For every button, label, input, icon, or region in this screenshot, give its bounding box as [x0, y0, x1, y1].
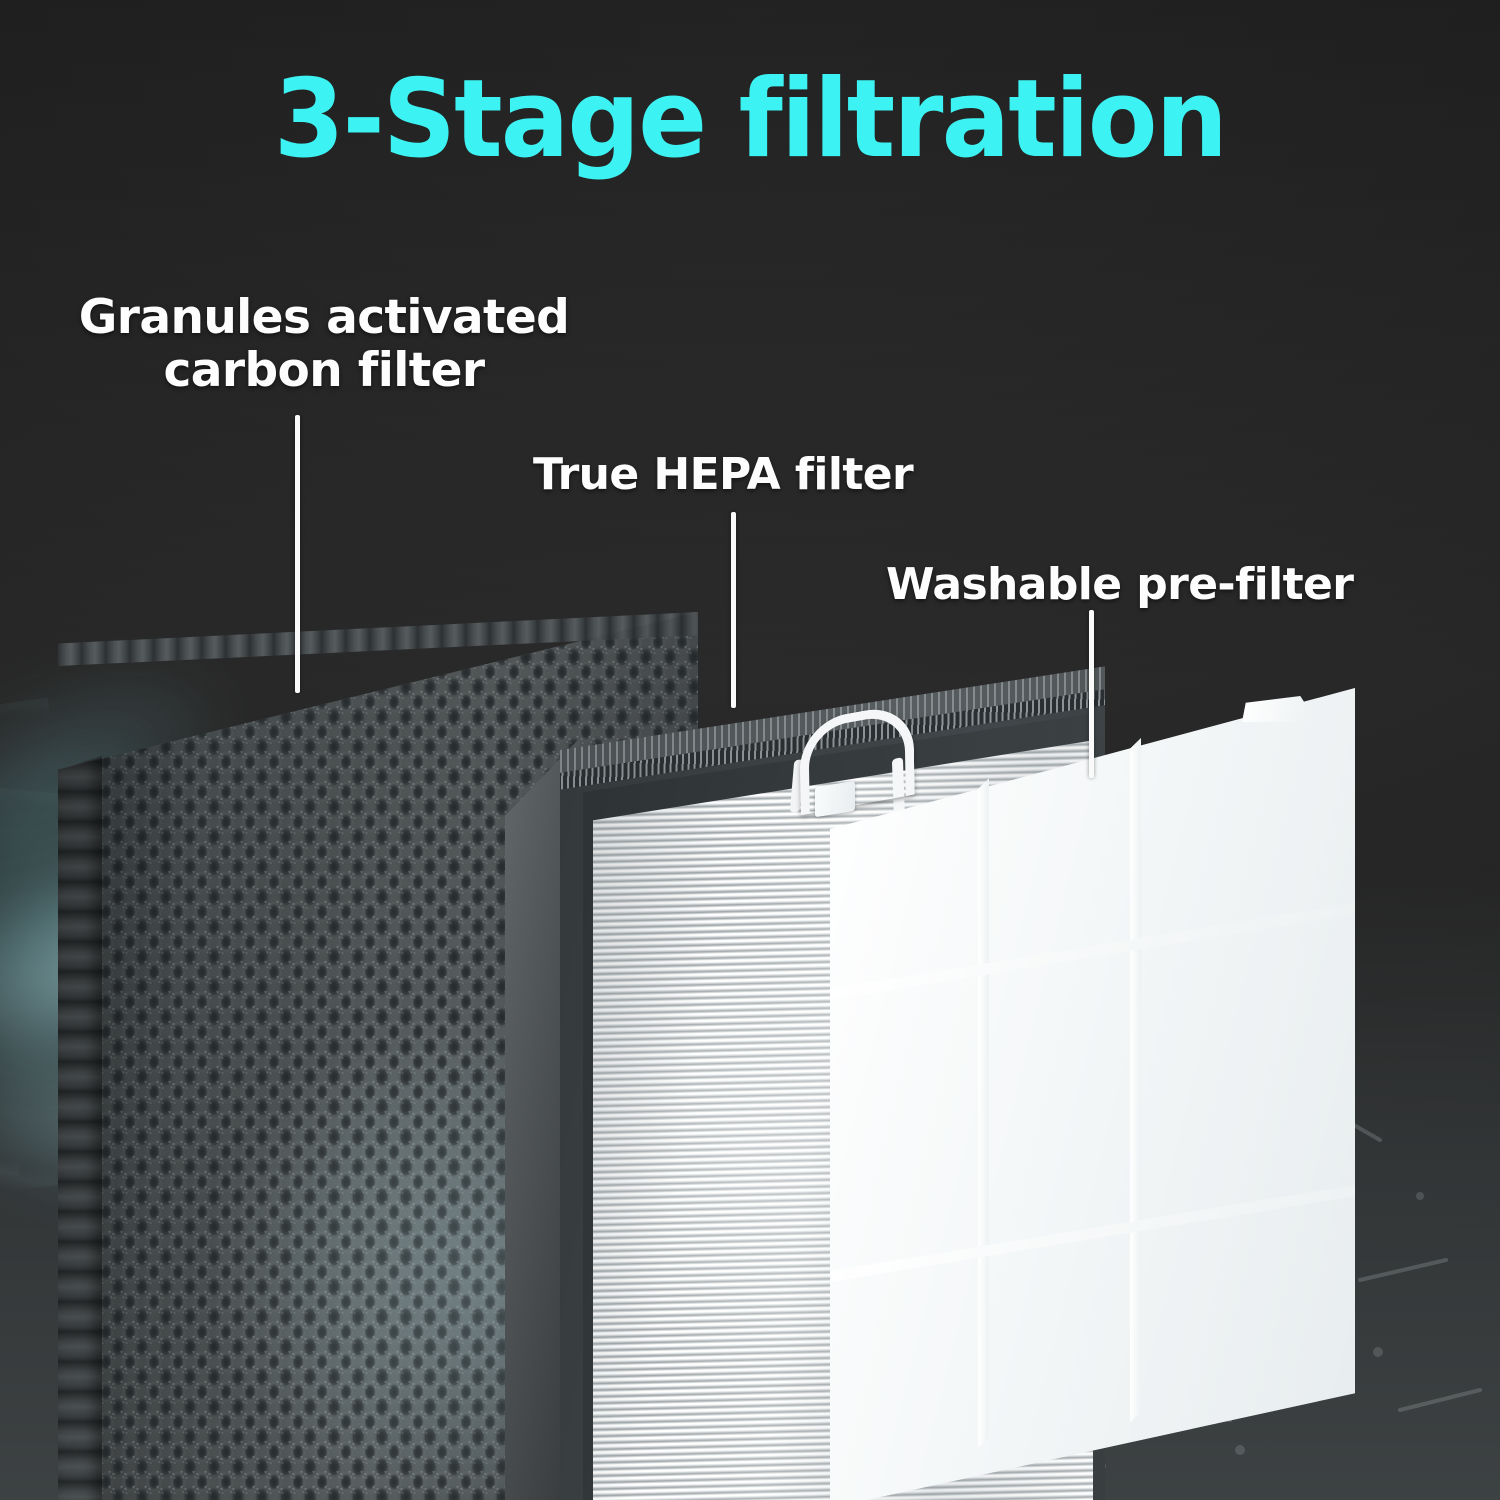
prefilter-divider-vertical	[978, 688, 989, 1500]
callout-label-carbon: Granules activated carbon filter	[44, 292, 604, 397]
infographic-canvas: 3-Stage filtration Granules activated ca…	[0, 0, 1500, 1500]
callout-label-prefilter: Washable pre-filter	[886, 560, 1353, 609]
page-title: 3-Stage filtration	[45, 66, 1455, 174]
prefilter-edge-clip	[815, 781, 855, 818]
prefilter-mount-tab	[1242, 696, 1304, 722]
washable-pre-filter	[830, 688, 1355, 1500]
leader-line-hepa	[731, 512, 736, 708]
leader-line-carbon	[295, 415, 300, 693]
prefilter-outer-frame	[830, 688, 1355, 1500]
leader-line-prefilter	[1089, 610, 1094, 778]
prefilter-divider-vertical	[1130, 688, 1141, 1500]
callout-label-hepa: True HEPA filter	[533, 450, 913, 499]
